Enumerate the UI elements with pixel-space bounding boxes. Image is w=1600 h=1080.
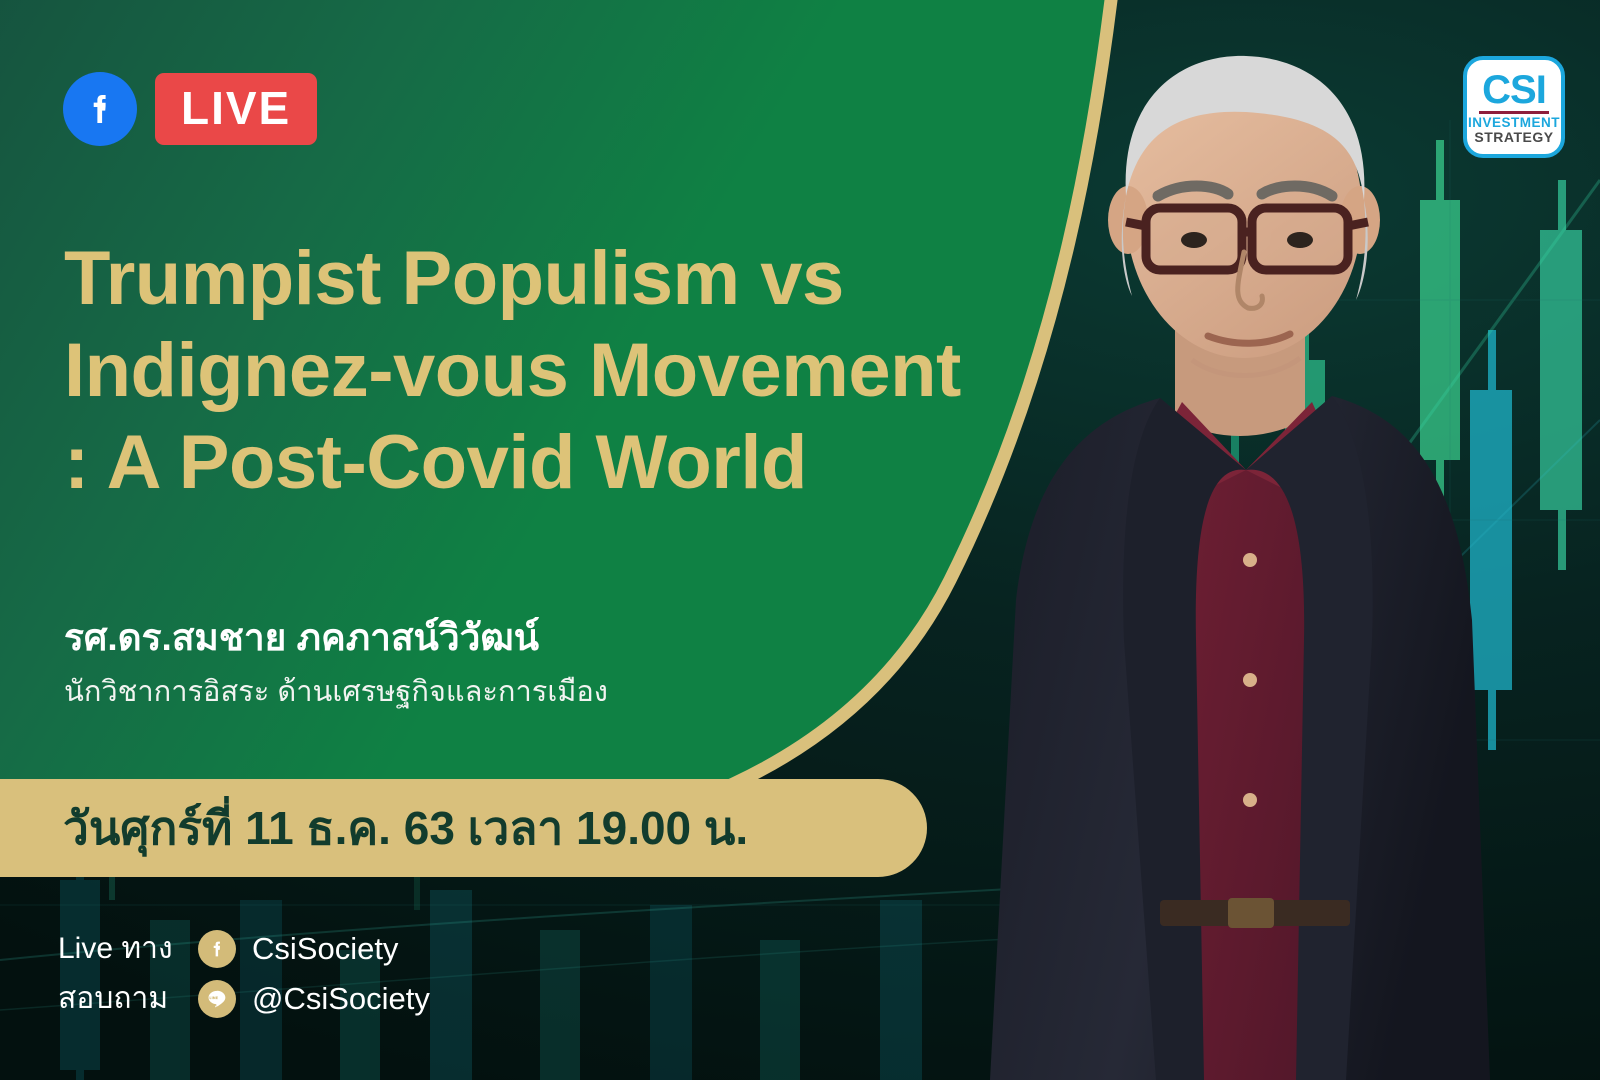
facebook-icon[interactable] [198,930,236,968]
contact-handle-facebook[interactable]: CsiSociety [252,931,398,967]
contact-label-ask: สอบถาม [58,975,198,1022]
date-banner-text: วันศุกร์ที่ 11 ธ.ค. 63 เวลา 19.00 น. [63,792,748,865]
contact-handle-line[interactable]: @CsiSociety [252,981,430,1017]
headline-line-2: Indignez-vous Movement [64,325,1064,417]
contact-label-live: Live ทาง [58,925,198,972]
facebook-live-badge: LIVE [63,72,317,146]
contact-line: สอบถาม @CsiSociety [58,975,430,1022]
live-label: LIVE [155,73,317,145]
headline-line-1: Trumpist Populism vs [64,233,1064,325]
speaker-role: นักวิชาการอิสระ ด้านเศรษฐกิจและการเมือง [64,668,608,714]
headline: Trumpist Populism vs Indignez-vous Movem… [64,233,1064,509]
speaker-portrait [960,0,1520,1080]
facebook-icon[interactable] [63,72,137,146]
speaker-name: รศ.ดร.สมชาย ภคภาสน์วิวัฒน์ [64,608,539,667]
line-chat-icon[interactable] [198,980,236,1018]
promo-poster: LIVE CSI INVESTMENT STRATEGY Trumpist Po… [0,0,1600,1080]
date-banner: วันศุกร์ที่ 11 ธ.ค. 63 เวลา 19.00 น. [0,779,927,877]
headline-line-3: : A Post-Covid World [64,417,1064,509]
contact-facebook: Live ทาง CsiSociety [58,925,398,972]
